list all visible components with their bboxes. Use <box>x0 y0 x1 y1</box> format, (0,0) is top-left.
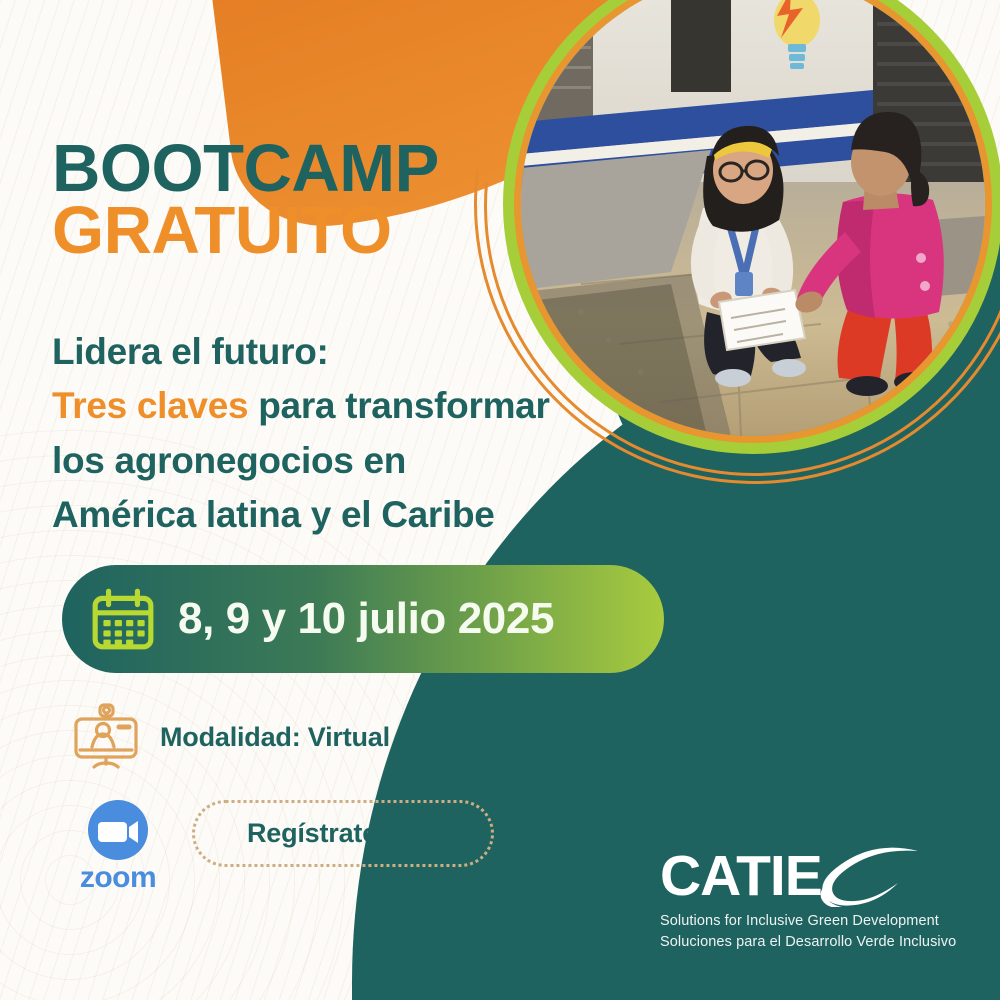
photo-circle <box>503 0 1000 454</box>
register-button-label: Regístrate aquí <box>247 818 439 849</box>
subtitle-line2: Tres claves para transformar <box>52 379 550 433</box>
date-banner: 8, 9 y 10 julio 2025 <box>62 565 664 673</box>
zoom-logo: zoom <box>66 797 170 895</box>
catie-wordmark: CATIE <box>660 848 822 905</box>
zoom-wordmark: zoom <box>66 861 170 895</box>
subtitle: Lidera el futuro: Tres claves para trans… <box>52 325 550 543</box>
page-title: BOOTCAMP GRATUITO <box>52 138 439 261</box>
zoom-camera-icon <box>66 797 170 863</box>
modality-row: Modalidad: Virtual | 1 hora <box>70 702 492 772</box>
register-button[interactable]: Regístrate aquí <box>192 800 494 867</box>
catie-tagline-en: Solutions for Inclusive Green Developmen… <box>660 911 970 932</box>
modality-text: Modalidad: Virtual | 1 hora <box>160 722 492 753</box>
headline-line2: GRATUITO <box>52 200 439 262</box>
headline-line1: BOOTCAMP <box>52 138 439 200</box>
subtitle-line4: América latina y el Caribe <box>52 488 550 542</box>
date-text: 8, 9 y 10 julio 2025 <box>178 594 554 644</box>
catie-logo: CATIE Solutions for Inclusive Green Deve… <box>660 845 970 952</box>
video-monitor-icon <box>70 702 142 772</box>
subtitle-line1: Lidera el futuro: <box>52 325 550 379</box>
calendar-icon <box>90 586 156 652</box>
subtitle-highlight: Tres claves <box>52 385 248 426</box>
subtitle-line3: los agronegocios en <box>52 434 550 488</box>
catie-swirl-icon <box>814 845 922 907</box>
promotional-flyer: BOOTCAMP GRATUITO Lidera el futuro: Tres… <box>0 0 1000 1000</box>
subtitle-line2-rest: para transformar <box>248 385 549 426</box>
catie-tagline: Solutions for Inclusive Green Developmen… <box>660 911 970 952</box>
catie-tagline-es: Soluciones para el Desarrollo Verde Incl… <box>660 932 970 953</box>
catie-mark: CATIE <box>660 845 970 907</box>
